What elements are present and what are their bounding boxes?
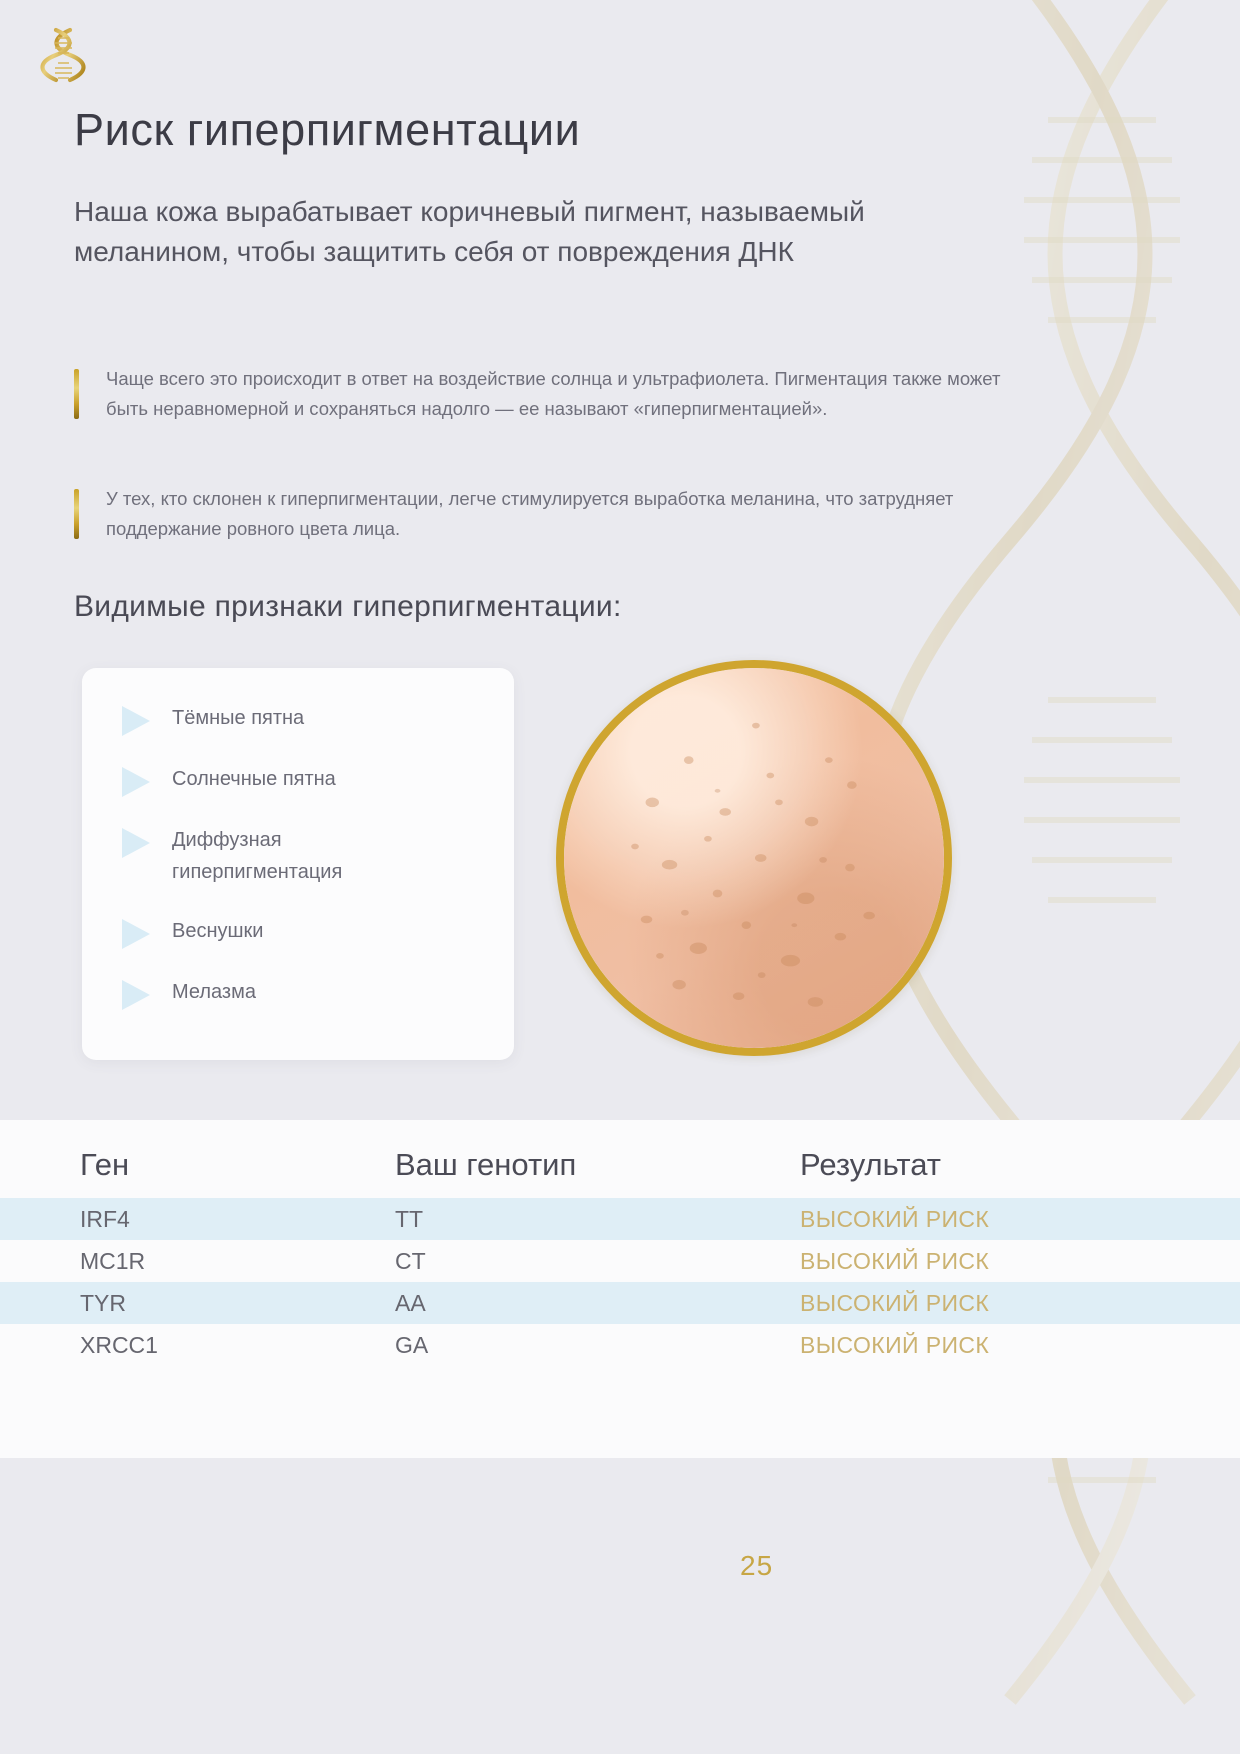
footer-divider — [74, 1574, 734, 1576]
sign-label: Солнечные пятна — [172, 763, 336, 795]
table-row: XRCC1 GA ВЫСОКИЙ РИСК — [0, 1324, 1240, 1366]
page-footer: 25 — [0, 1526, 1240, 1586]
page-title: Риск гиперпигментации — [74, 104, 580, 156]
cell-gene: MC1R — [80, 1248, 395, 1275]
callout-note-2: У тех, кто склонен к гиперпигментации, л… — [74, 484, 1004, 544]
list-item: Веснушки — [110, 915, 486, 949]
cell-genotype: TT — [395, 1206, 800, 1233]
cell-result: ВЫСОКИЙ РИСК — [800, 1290, 1160, 1317]
cell-genotype: CT — [395, 1248, 800, 1275]
cell-gene: XRCC1 — [80, 1332, 395, 1359]
triangle-right-icon — [122, 919, 150, 949]
column-header-genotype: Ваш генотип — [395, 1147, 800, 1183]
triangle-right-icon — [122, 828, 150, 858]
table-row: TYR AA ВЫСОКИЙ РИСК — [0, 1282, 1240, 1324]
sign-label: Тёмные пятна — [172, 702, 304, 734]
cell-genotype: GA — [395, 1332, 800, 1359]
freckles-texture — [564, 668, 944, 1048]
cell-result: ВЫСОКИЙ РИСК — [800, 1248, 1160, 1275]
column-header-gene: Ген — [80, 1147, 395, 1183]
cell-genotype: AA — [395, 1290, 800, 1317]
triangle-right-icon — [122, 706, 150, 736]
table-footer-spacer — [0, 1366, 1240, 1458]
triangle-right-icon — [122, 767, 150, 797]
genetics-table: Ген Ваш генотип Результат IRF4 TT ВЫСОКИ… — [0, 1120, 1240, 1458]
cell-gene: IRF4 — [80, 1206, 395, 1233]
sign-label: Веснушки — [172, 915, 263, 947]
cell-gene: TYR — [80, 1290, 395, 1317]
signs-section-heading: Видимые признаки гиперпигментации: — [74, 590, 622, 624]
list-item: Солнечные пятна — [110, 763, 486, 797]
table-header-row: Ген Ваш генотип Результат — [0, 1120, 1240, 1198]
list-item: Диффузная гиперпигментация — [110, 824, 486, 888]
sign-label: Мелазма — [172, 976, 256, 1008]
visible-signs-card: Тёмные пятна Солнечные пятна Диффузная г… — [82, 668, 514, 1060]
cell-result: ВЫСОКИЙ РИСК — [800, 1332, 1160, 1359]
skin-hyperpigmentation-photo — [556, 660, 952, 1056]
column-header-result: Результат — [800, 1147, 1160, 1183]
triangle-right-icon — [122, 980, 150, 1010]
callout-note-1: Чаще всего это происходит в ответ на воз… — [74, 364, 1004, 424]
page-number: 25 — [740, 1550, 773, 1582]
list-item: Мелазма — [110, 976, 486, 1010]
dna-helix-logo-icon — [40, 24, 86, 86]
report-page: Риск гиперпигментации Наша кожа вырабаты… — [0, 0, 1240, 1754]
intro-paragraph: Наша кожа вырабатывает коричневый пигмен… — [74, 192, 934, 272]
cell-result: ВЫСОКИЙ РИСК — [800, 1206, 1160, 1233]
table-row: MC1R CT ВЫСОКИЙ РИСК — [0, 1240, 1240, 1282]
table-row: IRF4 TT ВЫСОКИЙ РИСК — [0, 1198, 1240, 1240]
sign-label: Диффузная гиперпигментация — [172, 824, 422, 888]
list-item: Тёмные пятна — [110, 702, 486, 736]
